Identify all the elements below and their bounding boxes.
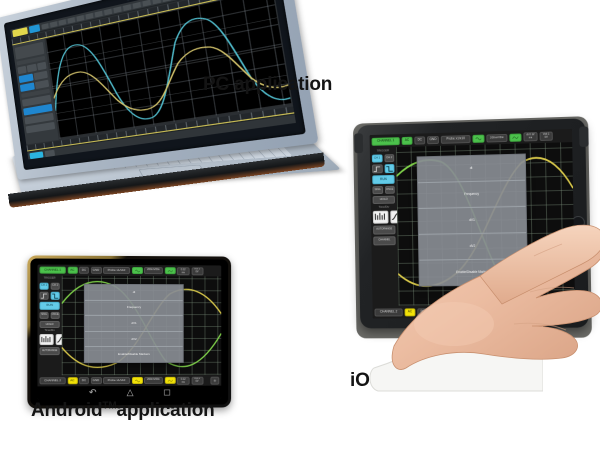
- slope-falling-icon[interactable]: [384, 164, 394, 173]
- sine-wave-icon: [167, 377, 172, 383]
- ios-trigger-ch2[interactable]: CH 2: [384, 154, 394, 162]
- ios-sidebar[interactable]: TRIGGER CH 1 CH 2: [370, 147, 399, 306]
- ios-measurement-menu[interactable]: dt Frequency dV1 dV2 Enable/Disable Mark…: [417, 153, 528, 286]
- ios-waveform-plot[interactable]: dt Frequency dV1 dV2 Enable/Disable Mark…: [396, 142, 575, 305]
- ios-btn-probe[interactable]: Probe x1/x10: [441, 135, 471, 144]
- pc-laptop: [12, 14, 342, 224]
- menu-item-dv1[interactable]: dV1: [419, 207, 526, 235]
- android-btn-single[interactable]: SING: [40, 311, 49, 318]
- android-sine-wave-icon-1[interactable]: [131, 267, 142, 274]
- slope-rising-icon[interactable]: [372, 164, 382, 173]
- android-view-row[interactable]: [40, 334, 60, 345]
- android-btn2-volt-2[interactable]: Volt 2 0V: [191, 376, 203, 384]
- android-sidebar[interactable]: TRIGGER CH 1 CH 2: [37, 276, 61, 376]
- sine-wave-icon: [134, 377, 139, 383]
- android-run-button[interactable]: RUN: [40, 301, 60, 309]
- ios-trigger-channels[interactable]: CH 1 CH 2: [372, 154, 394, 163]
- android-tablet: CHANNEL 1 AC DC GND Probe x1/x10 200mV/D…: [27, 255, 231, 408]
- android-trigger-channels[interactable]: CH 1 CH 2: [40, 282, 60, 289]
- slope-rising-icon[interactable]: [40, 291, 49, 299]
- android-btn-dc[interactable]: DC: [79, 267, 89, 274]
- ios-trigger-ch1[interactable]: CH 1: [372, 154, 382, 162]
- ios-btn-gnd[interactable]: GND: [427, 135, 439, 143]
- menu-item-dv1[interactable]: dV1: [85, 316, 182, 332]
- ios-btn-volt-1[interactable]: Volt 1 0V: [540, 132, 553, 141]
- android-sine-wave-icon-2[interactable]: [164, 267, 175, 274]
- android-hold-button[interactable]: HOLD: [40, 321, 60, 328]
- android-autorange-button[interactable]: AUTORANGE: [40, 347, 60, 355]
- android-btn-once[interactable]: ONCE: [51, 311, 60, 318]
- android-btn-channel-1[interactable]: CHANNEL 1: [40, 267, 66, 274]
- ios-btn-single[interactable]: SING: [372, 186, 382, 194]
- android-screen[interactable]: CHANNEL 1 AC DC GND Probe x1/x10 200mV/D…: [30, 258, 228, 405]
- menu-item-dt[interactable]: dt: [418, 154, 525, 183]
- ios-btn-once[interactable]: ONCE: [384, 186, 394, 194]
- android-btn-volts-div[interactable]: 200mV/Div: [144, 267, 163, 274]
- android-btn2-volts-div[interactable]: 200mV/Div: [144, 377, 163, 384]
- shirt-sleeve: [368, 292, 543, 392]
- android-sine-wave-icon-4[interactable]: [164, 377, 175, 384]
- caption-android-application: AndroidTMapplication: [31, 400, 215, 422]
- ios-btn-volts-div[interactable]: 200mV/Div: [486, 133, 507, 142]
- caption-android-suffix: application: [116, 400, 214, 421]
- android-btn2-dc[interactable]: DC: [79, 377, 89, 384]
- android-mode-row[interactable]: SING ONCE: [40, 311, 60, 318]
- ios-hold-button[interactable]: HOLD: [373, 195, 395, 203]
- android-btn-gnd[interactable]: GND: [90, 267, 101, 274]
- pc-range-b[interactable]: [27, 64, 37, 73]
- webcam-icon: [126, 0, 131, 1]
- gear-icon[interactable]: [563, 306, 573, 315]
- pc-channel-ch2[interactable]: [33, 71, 48, 81]
- bars-icon[interactable]: [40, 334, 54, 345]
- ios-view-row[interactable]: [373, 210, 396, 223]
- caption-pc-application: PC application: [203, 74, 332, 96]
- ios-autorange-button[interactable]: AUTORANGE: [373, 225, 395, 234]
- android-slope-row[interactable]: [40, 291, 60, 299]
- ios-slope-row[interactable]: [372, 164, 394, 173]
- ios-btn-channel-1[interactable]: CHANNEL 1: [372, 137, 400, 146]
- android-btn-probe[interactable]: Probe x1/x10: [103, 267, 130, 274]
- back-icon[interactable]: ↶: [89, 388, 97, 397]
- home-icon[interactable]: △: [127, 388, 134, 397]
- ios-btn2-volt-2[interactable]: Volt 2 0V: [543, 306, 556, 315]
- pc-range-a[interactable]: [17, 66, 27, 75]
- menu-item-frequency[interactable]: Frequency: [418, 180, 525, 208]
- ios-run-button[interactable]: RUN: [372, 175, 394, 184]
- pc-tab-ch2[interactable]: [29, 24, 40, 33]
- ios-btn-dc[interactable]: DC: [414, 136, 425, 144]
- android-btn2-probe[interactable]: Probe x1/x10: [103, 377, 130, 384]
- bars-icon[interactable]: [373, 210, 389, 223]
- trademark-icon: TM: [102, 401, 116, 412]
- android-waveform-plot[interactable]: dt Frequency dV1 dV2 Enable/Disable Mark…: [62, 276, 222, 376]
- android-btn2-dt[interactable]: dt 0.12 ms: [177, 376, 190, 384]
- ios-btn-dt[interactable]: dt 0.12 ms: [523, 132, 537, 141]
- menu-item-enable-disable-markers[interactable]: Enable/Disable Markers: [420, 259, 527, 285]
- ios-main-area: TRIGGER CH 1 CH 2: [370, 142, 575, 306]
- caption-android-prefix: Android: [31, 400, 102, 421]
- gear-icon[interactable]: [210, 376, 219, 384]
- ipad-screen[interactable]: CHANNEL 1 AC DC GND Probe x1/x10 200mV/D…: [370, 129, 576, 319]
- ios-sine-wave-icon-1[interactable]: [472, 134, 484, 142]
- menu-item-frequency[interactable]: Frequency: [85, 300, 182, 316]
- android-trigger-ch2[interactable]: CH 2: [51, 282, 60, 289]
- android-main-area: TRIGGER CH 1 CH 2: [37, 276, 221, 376]
- menu-item-dt[interactable]: dt: [85, 285, 182, 301]
- pc-bottom-tab-ch2[interactable]: [29, 151, 43, 159]
- android-navigation-bar[interactable]: ↶ △ ◻: [37, 386, 221, 400]
- android-bottom-toolbar[interactable]: CHANNEL 2 AC DC GND Probe x1/x10 200mV/D…: [37, 375, 221, 387]
- sine-wave-icon: [167, 268, 172, 274]
- pc-mode-dc[interactable]: [34, 80, 49, 90]
- slope-falling-icon[interactable]: [51, 291, 60, 299]
- android-btn2-ac[interactable]: AC: [67, 377, 77, 384]
- android-sine-wave-icon-3[interactable]: [131, 377, 142, 384]
- android-trigger-ch1[interactable]: CH 1: [40, 282, 49, 289]
- menu-item-dv2[interactable]: dV2: [85, 332, 182, 348]
- ios-trigger-label: TRIGGER: [372, 149, 394, 152]
- android-btn-ac[interactable]: AC: [67, 267, 77, 274]
- android-btn-dt[interactable]: dt 0.12 ms: [177, 267, 190, 275]
- menu-item-dv2[interactable]: dV2: [419, 233, 526, 261]
- android-btn-volt-1[interactable]: Volt 1 0V: [191, 267, 203, 275]
- ios-sine-wave-icon-2[interactable]: [509, 133, 521, 141]
- ios-scope-application: CHANNEL 1 AC DC GND Probe x1/x10 200mV/D…: [370, 129, 576, 319]
- ios-channel-button[interactable]: CHANNEL: [373, 236, 395, 245]
- android-top-toolbar[interactable]: CHANNEL 1 AC DC GND Probe x1/x10 200mV/D…: [37, 265, 221, 277]
- ios-btn-ac[interactable]: AC: [402, 136, 413, 144]
- android-measurement-menu[interactable]: dt Frequency dV1 dV2 Enable/Disable Mark…: [84, 284, 183, 363]
- android-btn-channel-2[interactable]: CHANNEL 2: [40, 377, 66, 384]
- sine-wave-icon: [512, 134, 518, 140]
- sine-wave-icon: [134, 268, 139, 274]
- recents-icon[interactable]: ◻: [163, 388, 170, 397]
- ios-timebase-label: Time/Div: [373, 205, 395, 208]
- menu-item-enable-disable-markers[interactable]: Enable/Disable Markers: [85, 347, 182, 362]
- android-trigger-label: TRIGGER: [40, 278, 60, 281]
- pc-bottom-tab-extra[interactable]: [44, 149, 55, 156]
- pc-mode-ac[interactable]: [20, 83, 35, 92]
- pc-range-c[interactable]: [37, 62, 47, 71]
- android-scope-application: CHANNEL 1 AC DC GND Probe x1/x10 200mV/D…: [37, 265, 221, 400]
- android-btn2-gnd[interactable]: GND: [90, 377, 101, 384]
- pc-tab-ch1[interactable]: [12, 27, 28, 37]
- ios-mode-row[interactable]: SING ONCE: [372, 186, 394, 194]
- android-timebase-label: Time/Div: [40, 330, 60, 333]
- pc-channel-ch1[interactable]: [19, 74, 33, 84]
- poster-canvas: PC application CHANNEL 1 AC DC GND Probe…: [0, 0, 600, 450]
- sine-wave-icon: [475, 135, 481, 141]
